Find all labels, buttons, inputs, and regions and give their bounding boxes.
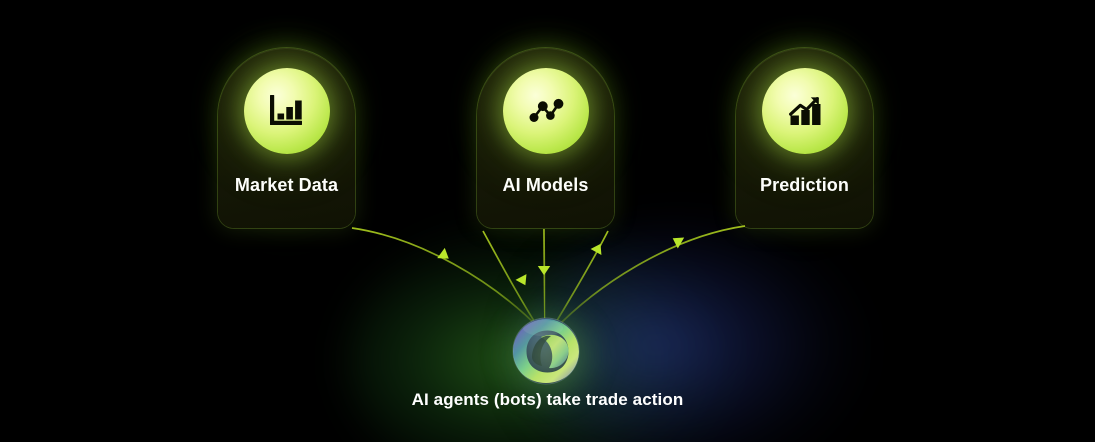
connector-prediction-to-orb — [553, 226, 745, 331]
diagram-canvas: Market Data AI Models — [0, 0, 1095, 442]
orb-caption: AI agents (bots) take trade action — [0, 390, 1095, 410]
node-label-market-data: Market Data — [235, 176, 338, 194]
node-graph-icon — [503, 68, 589, 154]
connector-market-data-to-orb — [352, 228, 541, 330]
arrowhead-icon — [669, 233, 684, 249]
arrowhead-icon — [591, 241, 606, 255]
arrowhead-icon — [437, 248, 452, 264]
arrowhead-icon — [538, 266, 550, 275]
node-label-prediction: Prediction — [760, 176, 849, 194]
node-card-market-data[interactable]: Market Data — [218, 48, 355, 228]
bar-chart-icon — [244, 68, 330, 154]
node-label-ai-models: AI Models — [503, 176, 589, 194]
node-card-prediction[interactable]: Prediction — [736, 48, 873, 228]
node-card-ai-models[interactable]: AI Models — [477, 48, 614, 228]
ai-agent-orb[interactable] — [511, 316, 581, 386]
arrowhead-icon — [516, 274, 531, 288]
trending-up-bar-icon — [762, 68, 848, 154]
